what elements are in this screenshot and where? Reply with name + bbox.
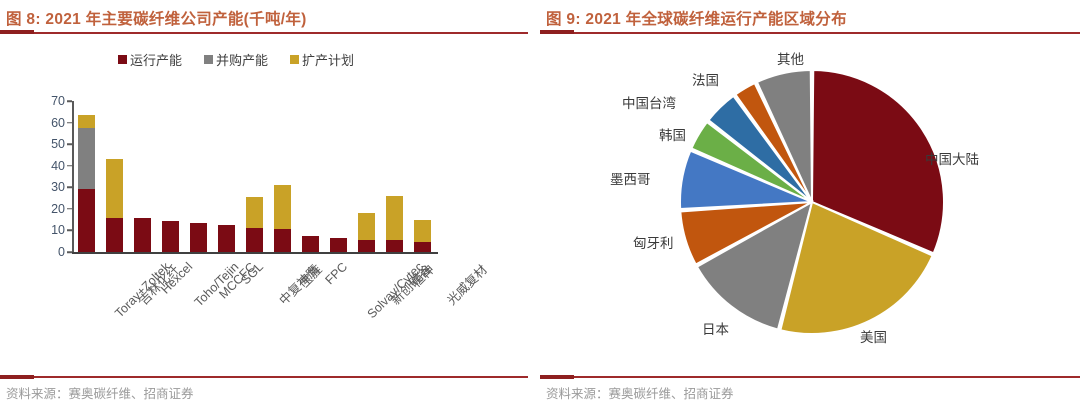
y-axis-tick-mark xyxy=(67,187,72,189)
bar-segment[interactable] xyxy=(386,196,403,240)
y-axis-tick-mark xyxy=(67,251,72,253)
bar-stack[interactable] xyxy=(302,236,319,252)
pie-slice-label: 韩国 xyxy=(659,124,686,144)
bar-chart-plot-area: 706050403020100 xyxy=(72,101,436,252)
figure-8-title-rule-cap xyxy=(0,30,34,34)
pie-slice-label: 墨西哥 xyxy=(610,168,651,188)
bar-slot xyxy=(268,101,296,252)
bar-slot xyxy=(380,101,408,252)
bar-slot xyxy=(324,101,352,252)
bar-segment[interactable] xyxy=(162,221,179,252)
legend-label: 运行产能 xyxy=(130,50,182,69)
y-axis-tick-mark xyxy=(67,165,72,167)
bar-segment[interactable] xyxy=(302,236,319,252)
legend-label: 扩产计划 xyxy=(302,50,354,69)
y-axis-tick-mark xyxy=(67,122,72,124)
bar-segment[interactable] xyxy=(246,197,263,228)
figure-9-panel: 图 9: 2021 年全球碳纤维运行产能区域分布 其他法国中国台湾韩国墨西哥匈牙… xyxy=(540,0,1080,406)
pie-chart-svg xyxy=(540,40,1080,370)
bar-segment[interactable] xyxy=(414,220,431,243)
bar-stack[interactable] xyxy=(246,197,263,252)
bar-segment[interactable] xyxy=(358,240,375,252)
figure-8-panel: 图 8: 2021 年主要碳纤维公司产能(千吨/年) 运行产能并购产能扩产计划 … xyxy=(0,0,528,406)
bar-stack[interactable] xyxy=(190,223,207,252)
bar-slot xyxy=(128,101,156,252)
bar-segment[interactable] xyxy=(246,228,263,252)
pie-slice-label: 匈牙利 xyxy=(633,232,674,252)
bar-stack[interactable] xyxy=(274,185,291,252)
pie-slice-label: 法国 xyxy=(692,69,719,89)
figure-8-title: 图 8: 2021 年主要碳纤维公司产能(千吨/年) xyxy=(6,7,307,29)
bar-stack[interactable] xyxy=(386,196,403,252)
x-axis-tick-label: 光威复材 xyxy=(442,260,491,309)
bar-segment[interactable] xyxy=(106,159,123,217)
figure-9-source: 资料来源：赛奥碳纤维、招商证券 xyxy=(546,383,734,402)
legend-item-1: 并购产能 xyxy=(204,50,268,69)
bar-segment[interactable] xyxy=(134,218,151,253)
legend-swatch-icon xyxy=(290,55,299,64)
pie-slice-label: 中国台湾 xyxy=(622,92,676,112)
legend-item-2: 扩产计划 xyxy=(290,50,354,69)
bar-segment[interactable] xyxy=(274,229,291,252)
bar-stack[interactable] xyxy=(78,115,95,252)
figure-9-title-rule-cap xyxy=(540,30,574,34)
bar-stack[interactable] xyxy=(414,220,431,252)
pie-chart: 其他法国中国台湾韩国墨西哥匈牙利日本美国中国大陆 xyxy=(540,40,1080,370)
bar-slot xyxy=(408,101,436,252)
bar-slot xyxy=(184,101,212,252)
figure-9-title: 图 9: 2021 年全球碳纤维运行产能区域分布 xyxy=(546,7,847,29)
y-axis-tick-mark xyxy=(67,208,72,210)
bar-stack[interactable] xyxy=(162,221,179,252)
bar-slot xyxy=(240,101,268,252)
pie-slice-label: 其他 xyxy=(777,48,804,68)
y-axis-tick-mark xyxy=(67,230,72,232)
bar-slot xyxy=(212,101,240,252)
figure-8-footer-rule-cap xyxy=(0,375,34,379)
figure-9-footer-rule xyxy=(540,376,1080,378)
bar-segment[interactable] xyxy=(386,240,403,252)
bar-segment[interactable] xyxy=(78,115,95,128)
bar-series-container xyxy=(72,101,436,252)
bar-segment[interactable] xyxy=(330,238,347,252)
bar-slot xyxy=(156,101,184,252)
bar-segment[interactable] xyxy=(218,225,235,252)
pie-slice-label: 中国大陆 xyxy=(925,148,979,168)
figure-8-footer-rule xyxy=(0,376,528,378)
bar-slot xyxy=(72,101,100,252)
bar-stack[interactable] xyxy=(106,159,123,252)
bar-slot xyxy=(296,101,324,252)
bar-segment[interactable] xyxy=(414,242,431,252)
legend-swatch-icon xyxy=(118,55,127,64)
bar-chart-x-axis xyxy=(72,252,438,254)
bar-stack[interactable] xyxy=(358,213,375,252)
bar-segment[interactable] xyxy=(274,185,291,229)
bar-segment[interactable] xyxy=(78,128,95,189)
bar-segment[interactable] xyxy=(358,213,375,240)
y-axis-tick-mark xyxy=(67,143,72,145)
bar-chart-legend: 运行产能并购产能扩产计划 xyxy=(118,50,354,69)
bar-segment[interactable] xyxy=(106,218,123,253)
legend-item-0: 运行产能 xyxy=(118,50,182,69)
legend-swatch-icon xyxy=(204,55,213,64)
bar-segment[interactable] xyxy=(190,223,207,252)
x-axis-tick-label: FPC xyxy=(322,260,350,288)
figure-8-title-rule xyxy=(0,32,528,34)
bar-stack[interactable] xyxy=(218,225,235,252)
bar-stack[interactable] xyxy=(134,218,151,253)
bar-segment[interactable] xyxy=(78,189,95,252)
pie-slice-label: 美国 xyxy=(860,326,887,346)
figure-9-title-rule xyxy=(540,32,1080,34)
bar-slot xyxy=(100,101,128,252)
figure-9-footer-rule-cap xyxy=(540,375,574,379)
pie-slice-label: 日本 xyxy=(702,318,729,338)
figure-8-source: 资料来源：赛奥碳纤维、招商证券 xyxy=(6,383,194,402)
bar-stack[interactable] xyxy=(330,238,347,252)
legend-label: 并购产能 xyxy=(216,50,268,69)
bar-slot xyxy=(352,101,380,252)
y-axis-tick-mark xyxy=(67,100,72,102)
